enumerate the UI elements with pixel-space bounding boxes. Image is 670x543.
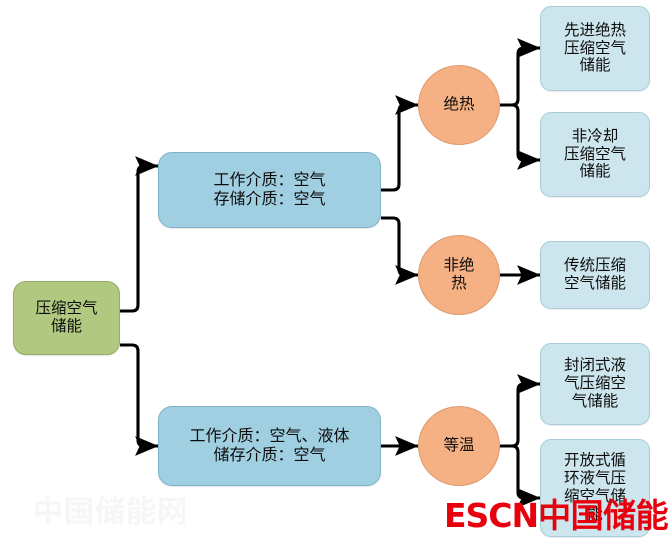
edge-adiabatic-to-leaf1 [500, 48, 540, 105]
edge-media1-to-nonadiabatic [381, 218, 418, 275]
node-category-adiabatic[interactable]: 绝热 [418, 65, 500, 145]
edge-root-to-media-2 [120, 345, 158, 446]
watermark-escn-chinese: 中国储能网 [538, 496, 670, 535]
edge-root-to-media-1 [120, 166, 158, 311]
node-leaf-closed-liquid-gas-caes[interactable]: 封闭式液 气压缩空 气储能 [540, 343, 650, 425]
node-leaf-non-cooled-caes[interactable]: 非冷却 压缩空气 储能 [540, 112, 650, 197]
node-media-air-air[interactable]: 工作介质：空气 存储介质：空气 [158, 152, 381, 228]
edge-isothermal-to-leaf4 [500, 384, 540, 446]
watermark-escn: ESCN中国储能网 [444, 489, 670, 537]
node-leaf-conventional-caes[interactable]: 传统压缩 空气储能 [540, 241, 650, 309]
edge-media1-to-adiabatic [381, 105, 418, 190]
node-media-air-liquid[interactable]: 工作介质：空气、液体 储存介质：空气 [158, 406, 381, 486]
node-category-non-adiabatic[interactable]: 非绝 热 [418, 235, 500, 315]
watermark-escn-latin: ESCN [444, 496, 538, 535]
watermark-faint: 中国储能网 [33, 487, 188, 531]
edge-adiabatic-to-leaf2 [500, 105, 540, 160]
node-category-isothermal[interactable]: 等温 [418, 406, 500, 486]
node-root-compressed-air-storage[interactable]: 压缩空气 储能 [13, 281, 120, 355]
node-leaf-advanced-adiabatic-caes[interactable]: 先进绝热 压缩空气 储能 [540, 6, 650, 91]
